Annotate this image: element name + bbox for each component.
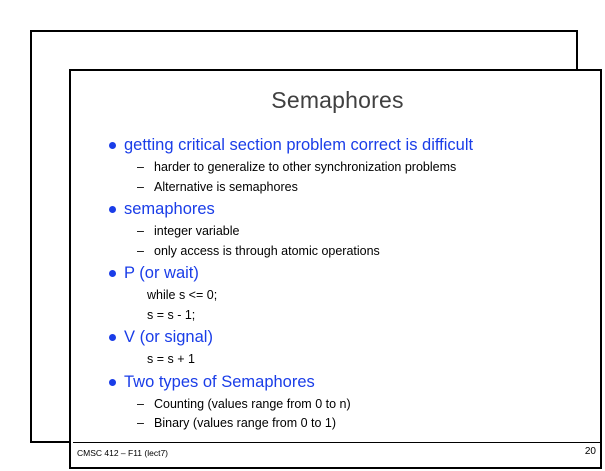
disc-bullet-icon — [109, 334, 116, 341]
bullet-level2-label: only access is through atomic operations — [154, 244, 380, 258]
bullet-group: V (or signal)s = s + 1 — [71, 325, 604, 370]
bullet-level1: semaphores — [71, 197, 604, 222]
disc-bullet-icon — [109, 142, 116, 149]
bullet-level2-label: integer variable — [154, 224, 239, 238]
disc-bullet-icon — [109, 206, 116, 213]
bullet-level2: –only access is through atomic operation… — [71, 242, 604, 262]
code-line: while s <= 0; — [71, 286, 604, 306]
slide-content: Semaphores getting critical section prob… — [71, 71, 604, 471]
footer-course-label: CMSC 412 – F11 (lect7) — [77, 448, 168, 458]
bullet-level1: Two types of Semaphores — [71, 370, 604, 395]
bullet-level1-label: semaphores — [124, 200, 215, 218]
en-dash-bullet-icon: – — [137, 222, 144, 242]
bullet-level1-label: getting critical section problem correct… — [124, 136, 473, 154]
en-dash-bullet-icon: – — [137, 178, 144, 198]
page-title: Semaphores — [71, 87, 604, 114]
en-dash-bullet-icon: – — [137, 242, 144, 262]
en-dash-bullet-icon: – — [137, 414, 144, 434]
en-dash-bullet-icon: – — [137, 395, 144, 415]
bullet-level2-label: Binary (values range from 0 to 1) — [154, 416, 336, 430]
bullet-level2: –Counting (values range from 0 to n) — [71, 395, 604, 415]
bullet-level1-label: P (or wait) — [124, 264, 199, 282]
slide-outer-frame: Semaphores getting critical section prob… — [30, 30, 578, 443]
bullet-level2: –Binary (values range from 0 to 1) — [71, 414, 604, 434]
bullet-group: P (or wait)while s <= 0;s = s - 1; — [71, 261, 604, 325]
disc-bullet-icon — [109, 379, 116, 386]
bullet-level2: –integer variable — [71, 222, 604, 242]
bullet-level1: getting critical section problem correct… — [71, 133, 604, 158]
bullet-group: getting critical section problem correct… — [71, 133, 604, 197]
bullet-level1-label: Two types of Semaphores — [124, 373, 315, 391]
page-number: 20 — [585, 446, 596, 457]
bullet-level2: –harder to generalize to other synchroni… — [71, 158, 604, 178]
code-line: s = s + 1 — [71, 350, 604, 370]
bullet-level2: –Alternative is semaphores — [71, 178, 604, 198]
bullet-level2-label: Counting (values range from 0 to n) — [154, 397, 351, 411]
bullet-level2-label: harder to generalize to other synchroniz… — [154, 160, 456, 174]
bullet-level1: P (or wait) — [71, 261, 604, 286]
bullet-group: Two types of Semaphores–Counting (values… — [71, 370, 604, 434]
bullet-level1: V (or signal) — [71, 325, 604, 350]
slide-body: getting critical section problem correct… — [71, 133, 604, 434]
footer-divider — [73, 442, 602, 443]
slide-inner-frame: Semaphores getting critical section prob… — [69, 69, 602, 469]
code-line: s = s - 1; — [71, 306, 604, 326]
disc-bullet-icon — [109, 270, 116, 277]
bullet-group: semaphores–integer variable–only access … — [71, 197, 604, 261]
bullet-level2-label: Alternative is semaphores — [154, 180, 298, 194]
en-dash-bullet-icon: – — [137, 158, 144, 178]
bullet-level1-label: V (or signal) — [124, 328, 213, 346]
